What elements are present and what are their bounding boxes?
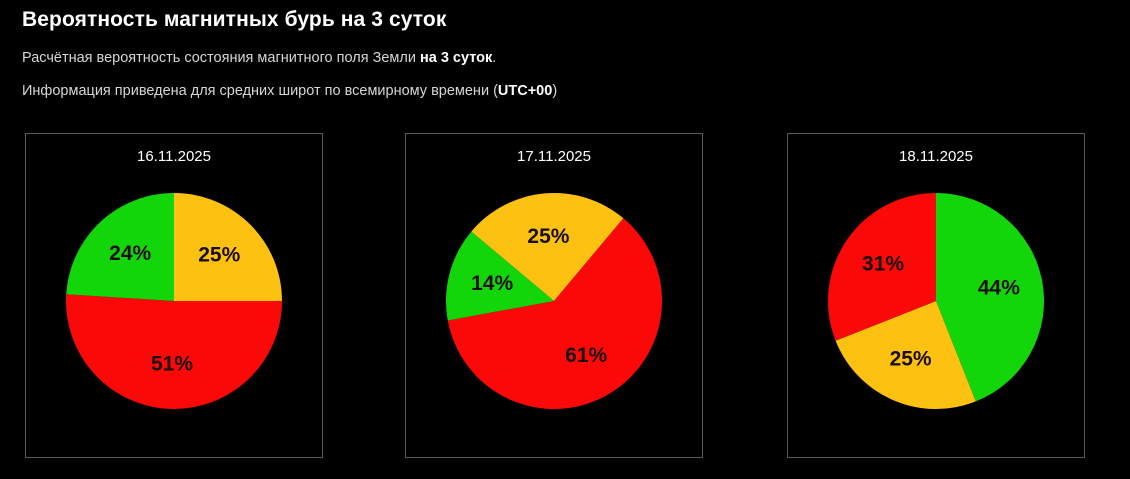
pie-svg: 44%25%31%	[826, 191, 1046, 411]
charts-row: 16.11.2025 25%51%24% 17.11.2025 25%61%14…	[0, 133, 1130, 460]
subtitle-1-bold: на 3 суток	[420, 50, 492, 66]
subtitle-1-prefix: Расчётная вероятность состояния магнитно…	[22, 50, 420, 66]
chart-card-day-3: 18.11.2025 44%25%31%	[787, 133, 1085, 458]
pie-slice-label: 51%	[151, 353, 193, 376]
pie-chart-day-3: 44%25%31%	[826, 191, 1046, 411]
pie-svg: 25%51%24%	[64, 191, 284, 411]
subtitle-line-1: Расчётная вероятность состояния магнитно…	[22, 50, 496, 66]
chart-card-day-1: 16.11.2025 25%51%24%	[25, 133, 323, 458]
chart-date-day-2: 17.11.2025	[406, 148, 702, 165]
pie-slice-label: 44%	[978, 277, 1020, 300]
pie-slice-label: 24%	[109, 242, 151, 265]
page-root: Вероятность магнитных бурь на 3 суток Ра…	[0, 0, 1130, 479]
page-title: Вероятность магнитных бурь на 3 суток	[22, 8, 446, 32]
pie-slice-label: 25%	[527, 225, 569, 248]
pie-slice-label: 31%	[862, 253, 904, 276]
pie-slice-label: 25%	[890, 347, 932, 370]
subtitle-2-bold: UTC+00	[498, 83, 552, 99]
chart-card-day-2: 17.11.2025 25%61%14%	[405, 133, 703, 458]
pie-slice-label: 61%	[565, 344, 607, 367]
pie-chart-day-2: 25%61%14%	[444, 191, 664, 411]
pie-slice-label: 25%	[198, 243, 240, 266]
pie-svg: 25%61%14%	[444, 191, 664, 411]
chart-date-day-1: 16.11.2025	[26, 148, 322, 165]
pie-slice-label: 14%	[471, 272, 513, 295]
pie-chart-day-1: 25%51%24%	[64, 191, 284, 411]
subtitle-1-suffix: .	[492, 50, 496, 66]
subtitle-2-suffix: )	[552, 83, 557, 99]
subtitle-line-2: Информация приведена для средних широт п…	[22, 83, 557, 99]
chart-date-day-3: 18.11.2025	[788, 148, 1084, 165]
subtitle-2-prefix: Информация приведена для средних широт п…	[22, 83, 498, 99]
